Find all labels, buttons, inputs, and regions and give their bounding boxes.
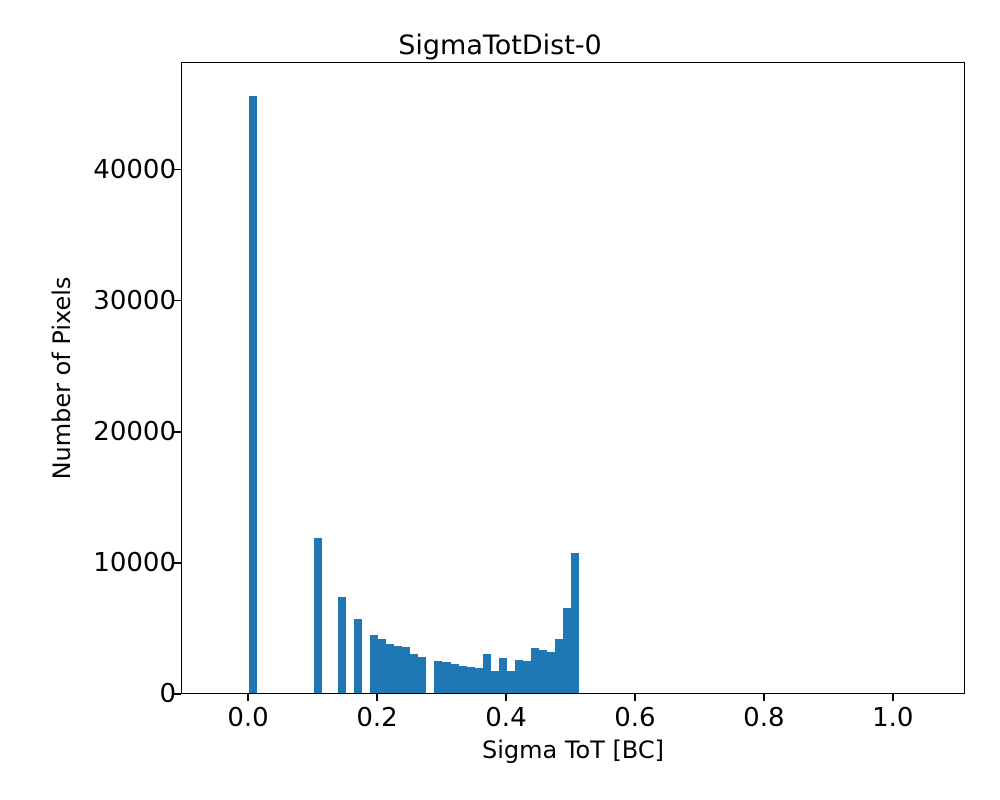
histogram-bar (491, 671, 499, 693)
histogram-bar (467, 667, 475, 693)
histogram-bar (531, 648, 539, 693)
x-tick-mark (634, 694, 636, 701)
histogram-bar (499, 658, 507, 693)
histogram-bar (547, 652, 555, 693)
y-tick-label: 40000 (93, 155, 176, 185)
x-axis-label: Sigma ToT [BC] (181, 736, 965, 764)
histogram-bar (555, 639, 563, 693)
chart-title: SigmaTotDist-0 (0, 30, 1000, 61)
histogram-bar (410, 654, 418, 693)
x-tick-mark (892, 694, 894, 701)
histogram-bar (386, 644, 394, 693)
histogram-bar (442, 662, 450, 693)
histogram-bar (249, 96, 257, 693)
y-tick-label: 0 (159, 679, 176, 709)
y-axis-label: Number of Pixels (46, 62, 78, 694)
histogram-bar (354, 619, 362, 693)
histogram-bar (434, 661, 442, 693)
axes-frame (181, 62, 965, 694)
figure-canvas: SigmaTotDist-0 0.00.20.40.60.81.0 010000… (0, 0, 1000, 800)
histogram-bar (314, 538, 322, 693)
histogram-bar (459, 666, 467, 693)
histogram-bar (507, 671, 515, 693)
histogram-bar (515, 660, 523, 693)
histogram-bar (418, 657, 426, 693)
x-tick-label: 0.4 (485, 703, 526, 733)
x-tick-label: 0.2 (356, 703, 397, 733)
x-tick-label: 0.8 (743, 703, 784, 733)
y-tick-label: 30000 (93, 286, 176, 316)
histogram-bar (483, 654, 491, 693)
x-tick-mark (376, 694, 378, 701)
histogram-bar (338, 597, 346, 693)
histogram-bar (563, 608, 571, 693)
histogram-bar (475, 668, 483, 693)
y-tick-label: 10000 (93, 548, 176, 578)
histogram-bar (571, 553, 579, 693)
histogram-bar (394, 646, 402, 693)
histogram-bar (402, 647, 410, 693)
x-tick-mark (763, 694, 765, 701)
histogram-bar (378, 639, 386, 693)
histogram-bar (539, 650, 547, 693)
x-tick-label: 0.0 (227, 703, 268, 733)
histogram-bar (370, 635, 378, 693)
histogram-bar (523, 661, 531, 693)
x-tick-mark (247, 694, 249, 701)
y-tick-label: 20000 (93, 417, 176, 447)
histogram-bar (451, 664, 459, 693)
x-tick-mark (505, 694, 507, 701)
x-tick-label: 0.6 (614, 703, 655, 733)
plot-area (182, 63, 964, 693)
x-tick-label: 1.0 (872, 703, 913, 733)
